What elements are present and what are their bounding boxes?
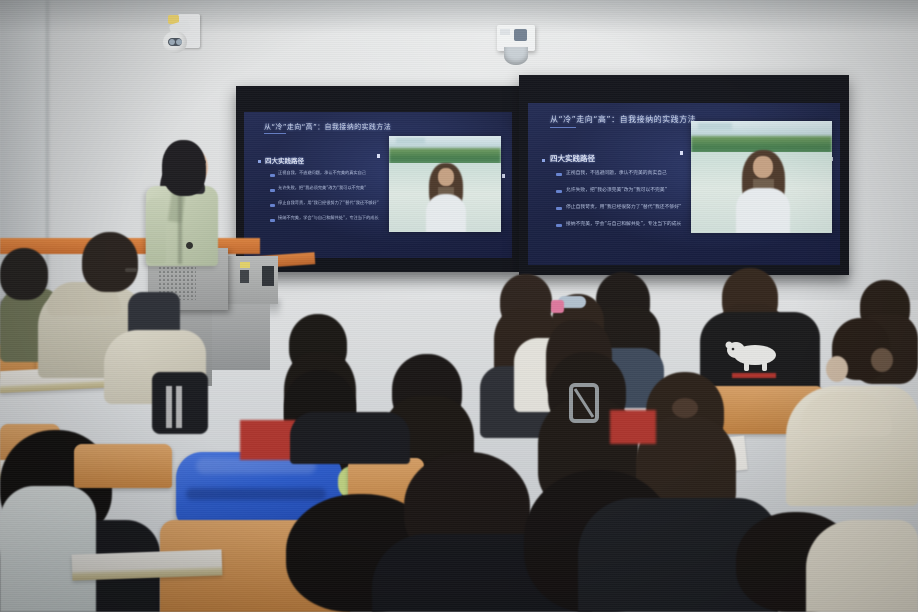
right-slide-title: 从“冷”走向“高”：自我接纳的实践方法 [550, 114, 696, 125]
left-bullet-marker-4 [270, 219, 275, 222]
console-control-panel[interactable] [240, 270, 249, 283]
right-title-underline [550, 127, 576, 128]
blue-jacket-fold [186, 488, 326, 500]
stripe-detail [176, 386, 182, 428]
chair-back [74, 444, 172, 488]
right-display[interactable]: 从“冷”走向“高”：自我接纳的实践方法 四大实践路径 正视自我，不逃避问题，承认… [519, 75, 849, 275]
hair-claw-clip-icon [566, 382, 602, 424]
jacket-red-text [732, 373, 776, 378]
left-bullet-marker-1 [270, 174, 275, 177]
right-bullet-2: 允许失败，把“我必须完美”改为“我可以不完美” [566, 186, 667, 193]
left-slide-title: 从“冷”走向“高”：自我接纳的实践方法 [264, 122, 391, 132]
student-head [82, 232, 138, 292]
student-glasses-icon [125, 268, 137, 272]
right-bullet-3: 停止自我苛责，用“我已经很努力了”替代“我还不够好” [566, 203, 681, 210]
right-bullet-marker-3 [556, 207, 562, 210]
left-subheading-marker [258, 160, 261, 163]
left-bullet-1: 正视自我，不逃避问题，承认不完美的真实自己 [278, 170, 366, 176]
stripe-detail [166, 386, 172, 428]
left-edge-marker-icon [502, 174, 505, 178]
ptz-camera-lens-left [169, 39, 175, 45]
ceiling-shadow [0, 0, 918, 34]
right-slide: 从“冷”走向“高”：自我接纳的实践方法 四大实践路径 正视自我，不逃避问题，承认… [528, 103, 840, 265]
video-highlight [698, 123, 732, 130]
student-ear [826, 356, 848, 382]
presenter-jacket-fold [178, 190, 182, 264]
student-red-top [240, 420, 296, 460]
right-bullet-marker-4 [556, 224, 562, 227]
left-title-underline [264, 133, 286, 134]
video-subject-top [426, 194, 466, 232]
left-cursor-icon [377, 154, 380, 158]
right-bullet-marker-1 [556, 173, 562, 176]
left-display[interactable]: 从“冷”走向“高”：自我接纳的实践方法 四大实践路径 正视自我，不逃避问题，承认… [236, 86, 520, 272]
student-grey-hoodie [0, 486, 96, 612]
right-subheading: 四大实践路径 [550, 153, 595, 164]
console-device-slot[interactable] [262, 266, 274, 286]
right-subheading-marker [542, 159, 545, 162]
left-bullet-3: 停止自我苛责，用“我已经很努力了”替代“我还不够好” [278, 200, 379, 206]
left-slide: 从“冷”走向“高”：自我接纳的实践方法 四大实践路径 正视自我，不逃避问题，承认… [244, 112, 512, 258]
student-red-top [610, 410, 656, 444]
dome-camera-lens [504, 47, 528, 65]
left-bullet-4: 接纳不完美，学会“与自己和解共处”，专注当下的成长 [278, 215, 379, 221]
classroom-screenshot: 从“冷”走向“高”：自我接纳的实践方法 四大实践路径 正视自我，不逃避问题，承认… [0, 0, 918, 612]
dome-camera-sensor [514, 29, 527, 41]
dome-camera-label [500, 29, 510, 35]
left-subheading: 四大实践路径 [265, 155, 304, 165]
presenter-jacket-button [186, 242, 193, 249]
right-bullet-1: 正视自我，不逃避问题，承认不完美的真实自己 [566, 169, 667, 176]
left-bullet-marker-3 [270, 204, 275, 207]
student-hood [800, 392, 892, 436]
video-highlight [396, 138, 425, 144]
presenter-hair [162, 140, 206, 196]
pink-scrunchie [551, 300, 564, 313]
hair-bun [871, 348, 893, 372]
desk-top [72, 549, 223, 580]
right-embedded-video[interactable] [691, 121, 832, 233]
left-bullet-2: 允许失败，把“我必须完美”改为“我可以不完美” [278, 185, 366, 191]
bear-graphic-icon [722, 338, 784, 372]
right-bullet-4: 接纳不完美，学会“与自己和解共处”，专注当下的成长 [566, 220, 681, 227]
left-embedded-video[interactable] [389, 136, 501, 232]
video-subject-face [753, 156, 773, 178]
ptz-camera-lens-right [176, 39, 182, 45]
right-cursor-icon [680, 151, 683, 155]
video-subject-top [736, 188, 790, 233]
ponytail-tie [672, 398, 698, 418]
console-pillar-right [212, 300, 270, 370]
console-indicator-light [240, 262, 250, 268]
student-head [0, 248, 48, 300]
student-dark-top [290, 412, 410, 464]
left-bullet-marker-2 [270, 189, 275, 192]
video-subject-face [438, 168, 454, 186]
right-bullet-marker-2 [556, 190, 562, 193]
student-body [806, 520, 918, 612]
presenter-jacket-sleeve [146, 198, 166, 264]
